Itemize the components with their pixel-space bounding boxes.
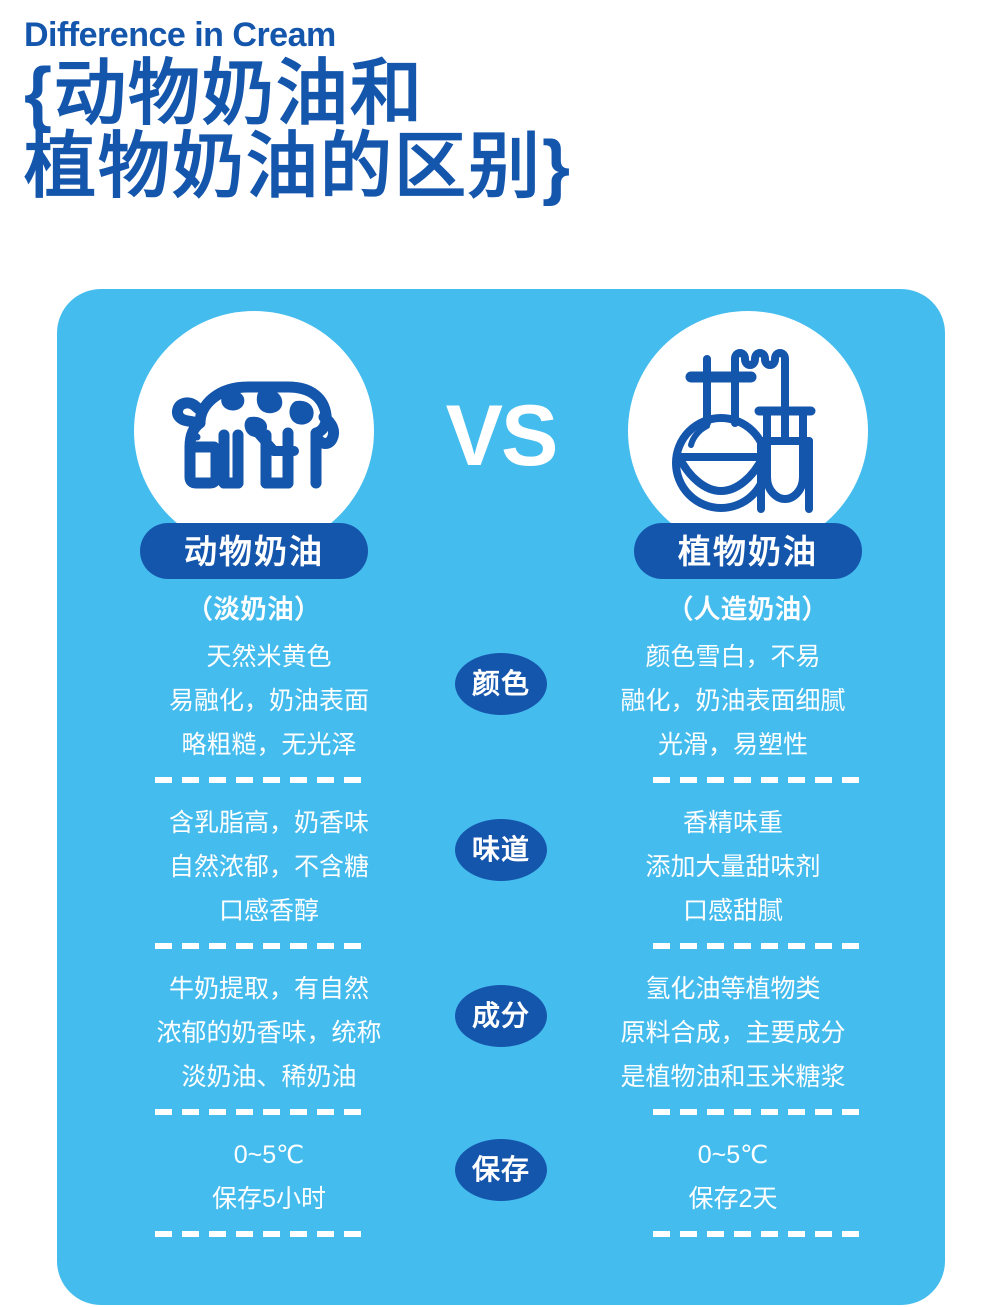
- page-title-line-1: {动物奶油和: [24, 58, 724, 131]
- row-divider-left: [155, 777, 363, 783]
- row-right-cell: 香精味重 添加大量甜味剂 口感甜腻: [563, 793, 903, 933]
- row-category-label: 颜色: [472, 670, 530, 698]
- comparison-rows: 天然米黄色 易融化，奶油表面 略粗糙，无光泽 颜色雪白，不易 融化，奶油表面细腻…: [57, 627, 945, 1247]
- row-text-line: 含乳脂高，奶香味: [99, 801, 439, 845]
- row-category-badge: 味道: [455, 819, 547, 881]
- plant-cream-subname: （人造奶油）: [598, 589, 898, 626]
- eyebrow-text: Difference in Cream: [24, 18, 724, 52]
- row-text-line: 易融化，奶油表面: [99, 679, 439, 723]
- row-category-label: 保存: [472, 1156, 530, 1184]
- row-category-label: 成分: [472, 1002, 530, 1030]
- animal-cream-label: 动物奶油: [184, 535, 324, 568]
- row-divider: [57, 1221, 945, 1247]
- comparison-row: 0~5℃ 保存5小时 0~5℃ 保存2天 保存: [57, 1125, 945, 1247]
- row-divider: [57, 767, 945, 793]
- row-text-line: 天然米黄色: [99, 635, 439, 679]
- infographic-page: Difference in Cream {动物奶油和 植物奶油的区别}: [0, 0, 1000, 1307]
- row-divider-right: [653, 777, 861, 783]
- row-text-line: 0~5℃: [563, 1133, 903, 1177]
- row-category-badge: 颜色: [455, 653, 547, 715]
- row-text-line: 淡奶油、稀奶油: [99, 1055, 439, 1099]
- row-text-line: 颜色雪白，不易: [563, 635, 903, 679]
- comparison-card: 动物奶油 （淡奶油） VS: [57, 289, 945, 1305]
- row-divider-right: [653, 1231, 861, 1237]
- row-left-cell: 牛奶提取，有自然 浓郁的奶香味，统称 淡奶油、稀奶油: [99, 959, 439, 1099]
- row-divider-left: [155, 943, 363, 949]
- row-text-line: 原料合成，主要成分: [563, 1011, 903, 1055]
- page-title: {动物奶油和 植物奶油的区别}: [24, 58, 724, 205]
- row-text-line: 口感香醇: [99, 889, 439, 933]
- row-text-line: 口感甜腻: [563, 889, 903, 933]
- row-divider: [57, 1099, 945, 1125]
- row-category-badge: 成分: [455, 985, 547, 1047]
- row-text-line: 自然浓郁，不含糖: [99, 845, 439, 889]
- row-left-cell: 0~5℃ 保存5小时: [99, 1125, 439, 1221]
- plant-icon-circle: [628, 311, 868, 551]
- row-left-cell: 天然米黄色 易融化，奶油表面 略粗糙，无光泽: [99, 627, 439, 767]
- row-right-cell: 颜色雪白，不易 融化，奶油表面细腻 光滑，易塑性: [563, 627, 903, 767]
- row-right-cell: 0~5℃ 保存2天: [563, 1125, 903, 1221]
- row-divider: [57, 933, 945, 959]
- row-text-line: 0~5℃: [99, 1133, 439, 1177]
- row-left-cell: 含乳脂高，奶香味 自然浓郁，不含糖 口感香醇: [99, 793, 439, 933]
- comparison-row: 天然米黄色 易融化，奶油表面 略粗糙，无光泽 颜色雪白，不易 融化，奶油表面细腻…: [57, 627, 945, 793]
- row-divider-right: [653, 943, 861, 949]
- row-text-line: 氢化油等植物类: [563, 967, 903, 1011]
- page-header: Difference in Cream {动物奶油和 植物奶油的区别}: [24, 18, 724, 205]
- row-text-line: 略粗糙，无光泽: [99, 723, 439, 767]
- row-category-label: 味道: [472, 836, 530, 864]
- plant-cream-label: 植物奶油: [678, 535, 818, 568]
- row-text-line: 添加大量甜味剂: [563, 845, 903, 889]
- row-text-line: 光滑，易塑性: [563, 723, 903, 767]
- row-category-badge: 保存: [455, 1139, 547, 1201]
- row-text-line: 融化，奶油表面细腻: [563, 679, 903, 723]
- row-divider-left: [155, 1231, 363, 1237]
- versus-header: 动物奶油 （淡奶油） VS: [57, 289, 945, 624]
- plant-cream-pill: 植物奶油: [634, 523, 862, 579]
- flask-icon: [663, 345, 833, 517]
- row-text-line: 浓郁的奶香味，统称: [99, 1011, 439, 1055]
- row-divider-left: [155, 1109, 363, 1115]
- comparison-row: 含乳脂高，奶香味 自然浓郁，不含糖 口感香醇 香精味重 添加大量甜味剂 口感甜腻…: [57, 793, 945, 959]
- compare-side-plant: 植物奶油 （人造奶油）: [598, 311, 898, 626]
- row-text-line: 香精味重: [563, 801, 903, 845]
- comparison-row: 牛奶提取，有自然 浓郁的奶香味，统称 淡奶油、稀奶油 氢化油等植物类 原料合成，…: [57, 959, 945, 1125]
- page-title-line-2: 植物奶油的区别}: [24, 131, 724, 204]
- row-text-line: 保存5小时: [99, 1177, 439, 1221]
- row-right-cell: 氢化油等植物类 原料合成，主要成分 是植物油和玉米糖浆: [563, 959, 903, 1099]
- animal-cream-subname: （淡奶油）: [104, 589, 404, 626]
- row-text-line: 牛奶提取，有自然: [99, 967, 439, 1011]
- row-text-line: 是植物油和玉米糖浆: [563, 1055, 903, 1099]
- row-divider-right: [653, 1109, 861, 1115]
- animal-cream-pill: 动物奶油: [140, 523, 368, 579]
- row-text-line: 保存2天: [563, 1177, 903, 1221]
